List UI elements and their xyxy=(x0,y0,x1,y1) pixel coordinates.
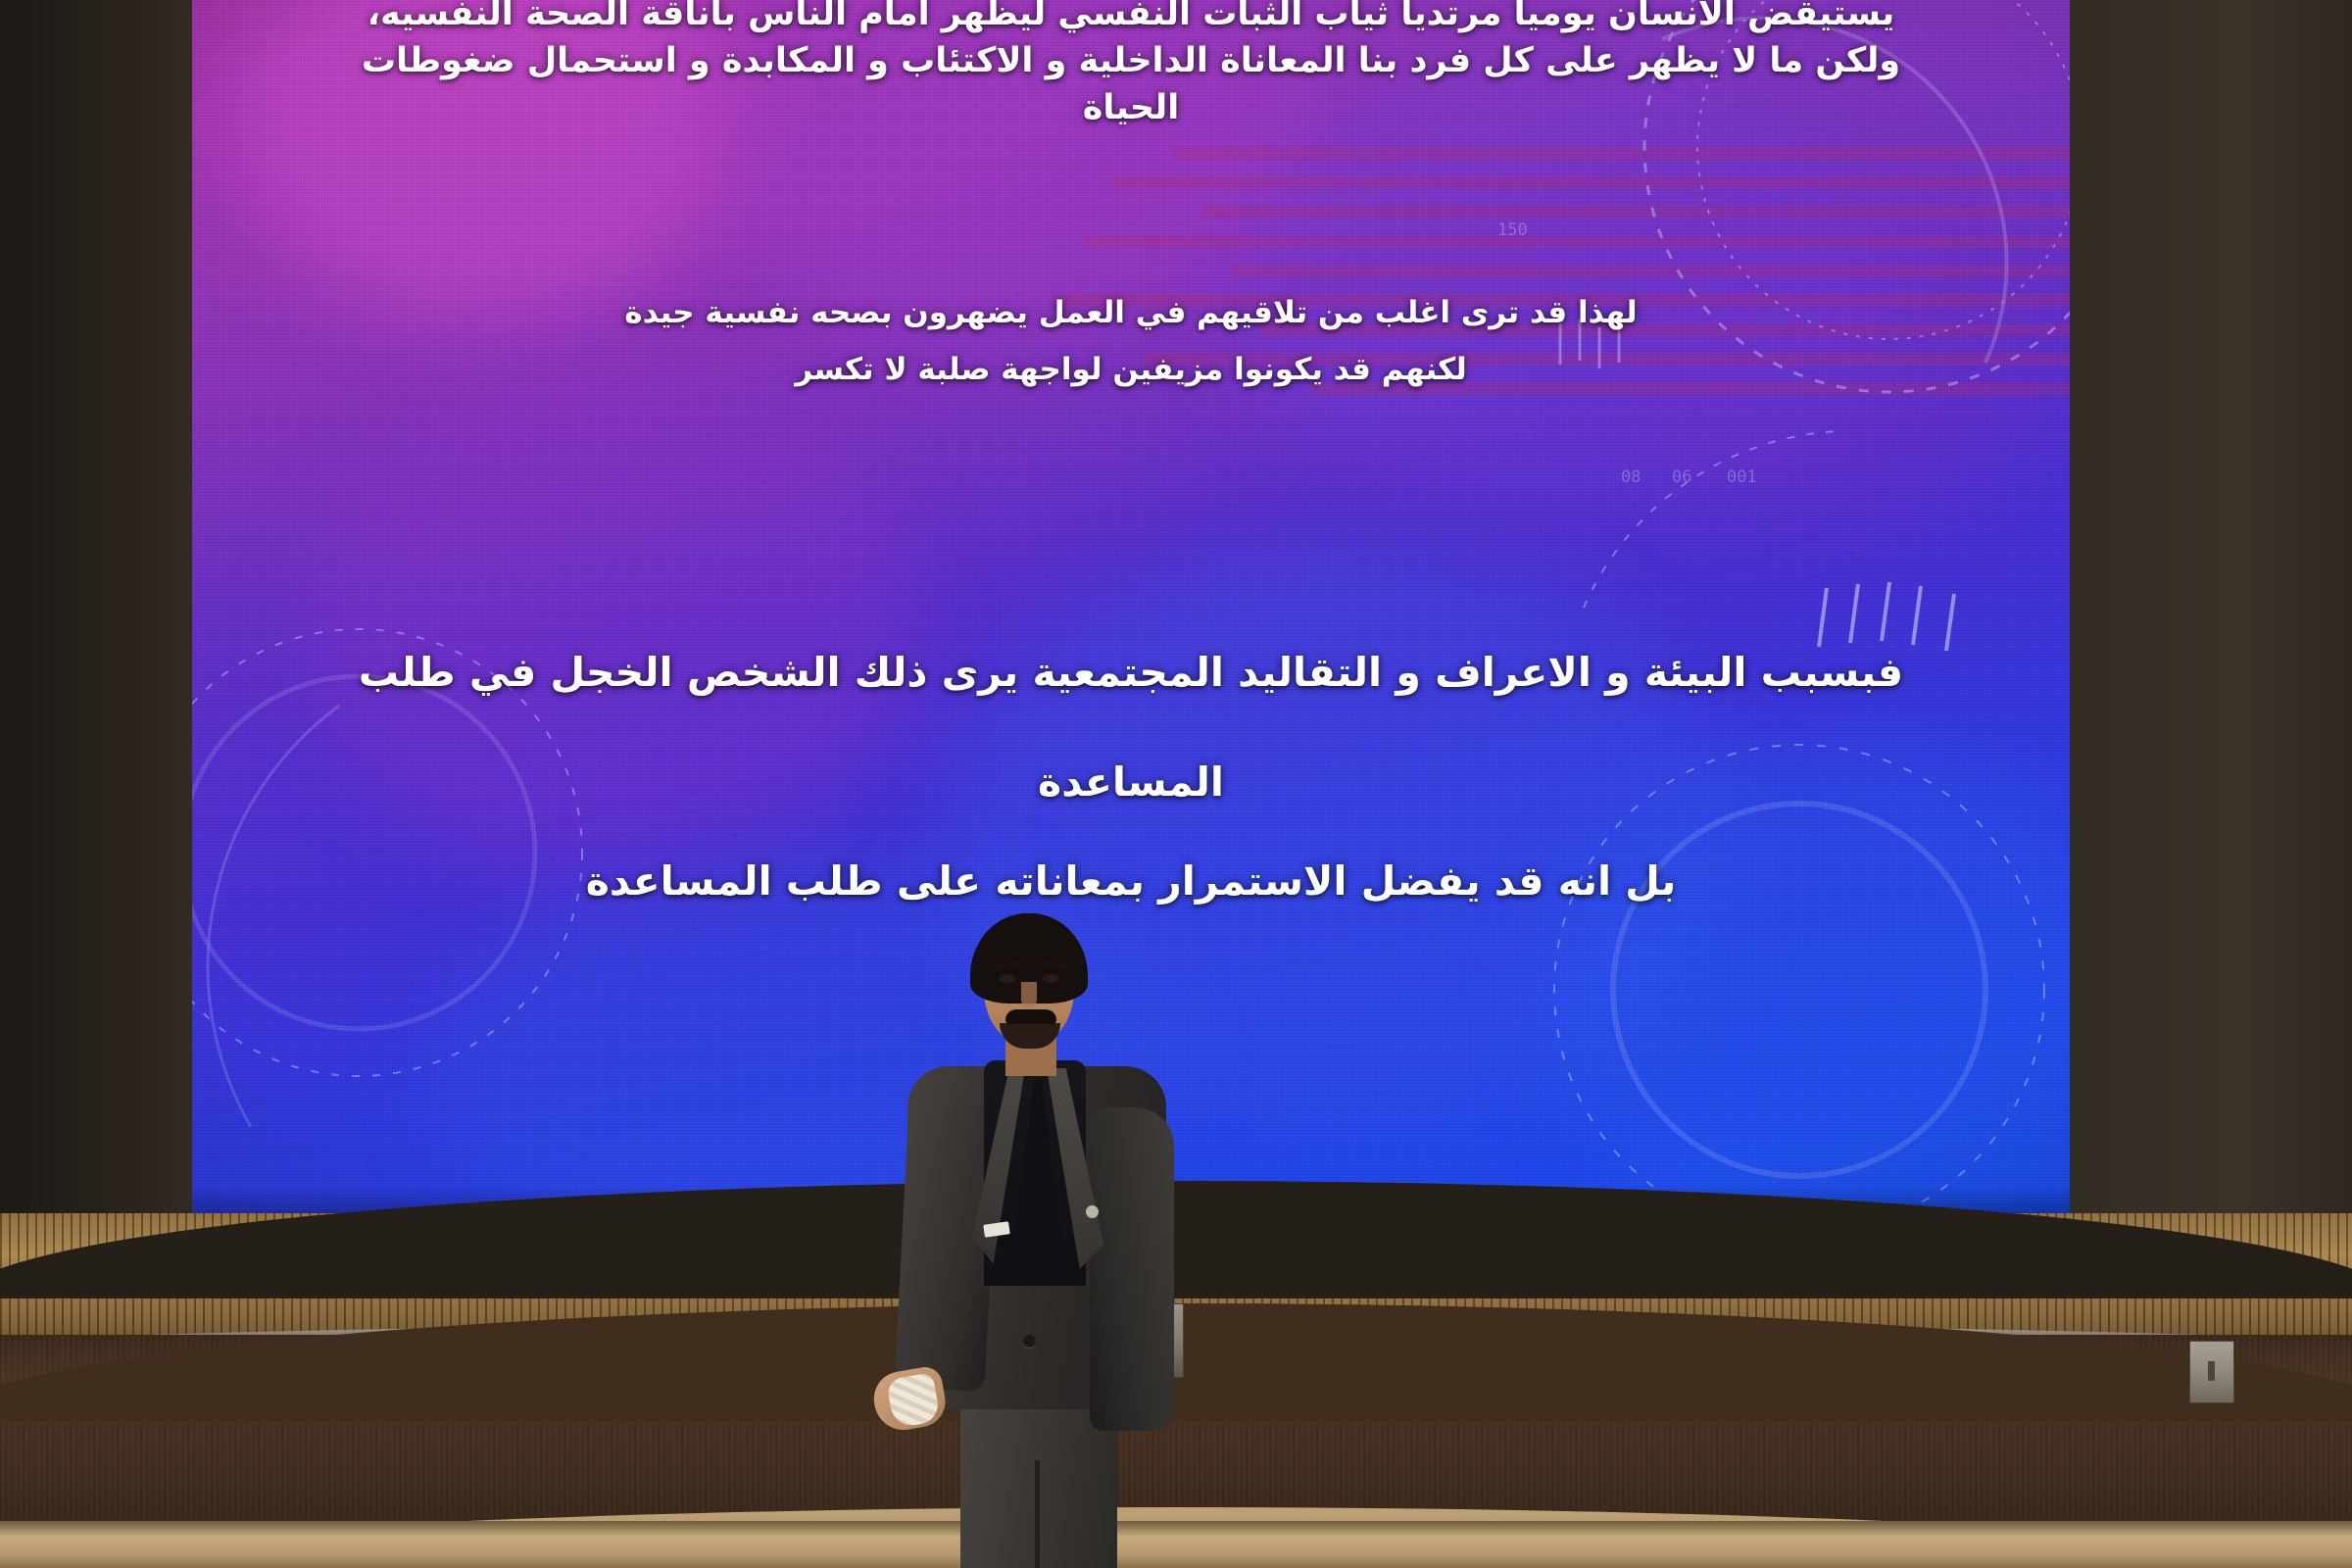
wall-socket-plate[interactable] xyxy=(2189,1341,2234,1403)
socket-slot-icon xyxy=(2208,1361,2215,1381)
presenter-left-arm xyxy=(1090,1107,1174,1431)
presenter-lapel-pin xyxy=(1086,1205,1099,1218)
wall-right-margin xyxy=(2070,0,2352,1240)
presenter-jacket-button xyxy=(1023,1335,1036,1347)
slide-paragraph-one: يستيقض الانسان يوميا مرتديا ثياب الثبات … xyxy=(239,0,2023,131)
presenter-eye xyxy=(999,974,1015,983)
presenter-leg-gap xyxy=(1035,1460,1040,1568)
slide-line: لهذا قد ترى اغلب من تلاقيهم في العمل يضه… xyxy=(368,284,1893,341)
slide-line: لكنهم قد يكونوا مزيفين لواجهة صلبة لا تك… xyxy=(368,341,1893,398)
presenter-nose xyxy=(1021,982,1037,1007)
slide-line: يستيقض الانسان يوميا مرتديا ثياب الثبات … xyxy=(239,0,2023,37)
screenshot-root: 08 06 001 150 يستيقض الانسان يوميا مرتدي… xyxy=(0,0,2352,1568)
slide-paragraph-four: بل انه قد يفضل الاستمرار بمعاناته على طل… xyxy=(339,851,1923,911)
slide-line: فبسبب البيئة و الاعراف و التقاليد المجتم… xyxy=(300,617,1962,727)
wall-left-margin xyxy=(0,0,192,1240)
presenter-eye xyxy=(1043,974,1059,983)
presenter-mustache xyxy=(1005,1009,1056,1024)
slide-paragraph-three: فبسبب البيئة و الاعراف و التقاليد المجتم… xyxy=(300,617,1962,837)
slide-line: الحياة xyxy=(239,84,2023,131)
slide-paragraph-two: لهذا قد ترى اغلب من تلاقيهم في العمل يضه… xyxy=(368,284,1893,398)
slide-line: المساعدة xyxy=(300,727,1962,837)
slide-line: بل انه قد يفضل الاستمرار بمعاناته على طل… xyxy=(339,851,1923,911)
slide-line: ولكن ما لا يظهر على كل فرد بنا المعاناة … xyxy=(239,37,2023,84)
presenter-person xyxy=(862,911,1215,1568)
